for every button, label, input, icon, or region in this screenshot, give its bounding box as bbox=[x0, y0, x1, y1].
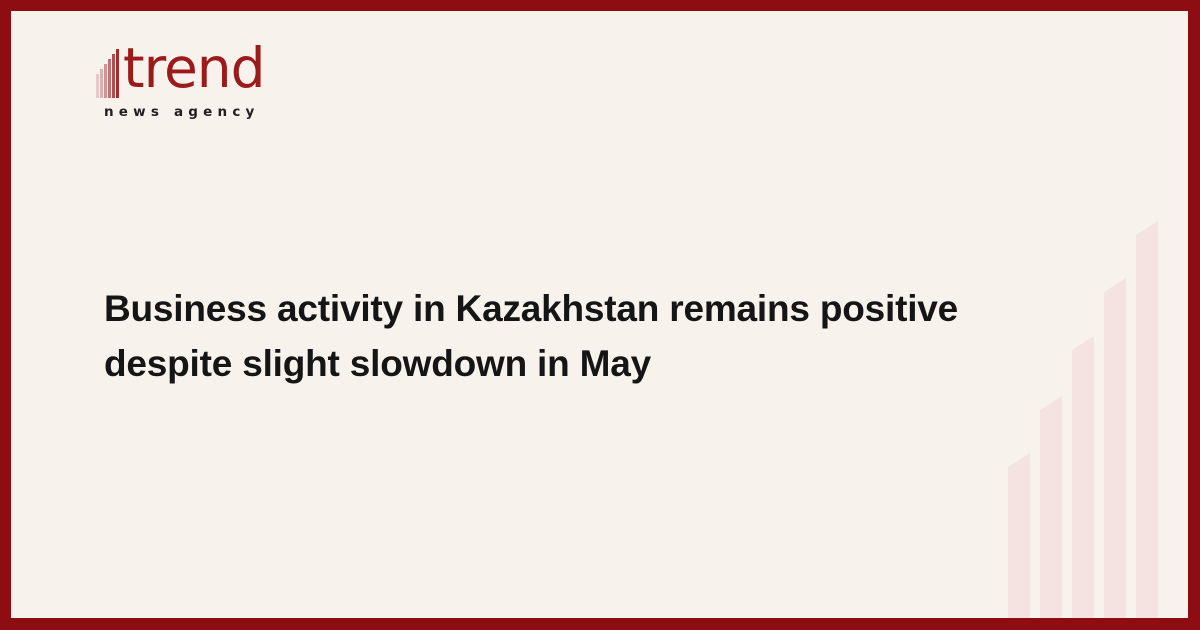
headline-line-1: Business activity in Kazakhstan remains … bbox=[104, 288, 958, 329]
ascending-bar-chart-watermark bbox=[1008, 188, 1188, 618]
trend-news-agency-logo[interactable]: trend news agency bbox=[96, 42, 326, 142]
page-title: Business activity in Kazakhstan remains … bbox=[104, 281, 1004, 391]
watermark-bar-5 bbox=[1136, 221, 1158, 618]
watermark-bar-1 bbox=[1008, 453, 1030, 618]
headline-line-2: despite slight slowdown in May bbox=[104, 343, 651, 384]
watermark-bar-4 bbox=[1104, 278, 1126, 618]
article-share-card: trend news agency Business activity in K… bbox=[0, 0, 1200, 630]
card-canvas: trend news agency Business activity in K… bbox=[11, 11, 1188, 618]
logo-mark: trend bbox=[96, 42, 326, 98]
watermark-bar-2 bbox=[1040, 396, 1062, 618]
logo-tagline: news agency bbox=[104, 104, 326, 120]
watermark-bar-3 bbox=[1072, 336, 1094, 618]
ascending-bars-icon bbox=[96, 46, 122, 98]
logo-wordmark: trend bbox=[123, 40, 265, 96]
